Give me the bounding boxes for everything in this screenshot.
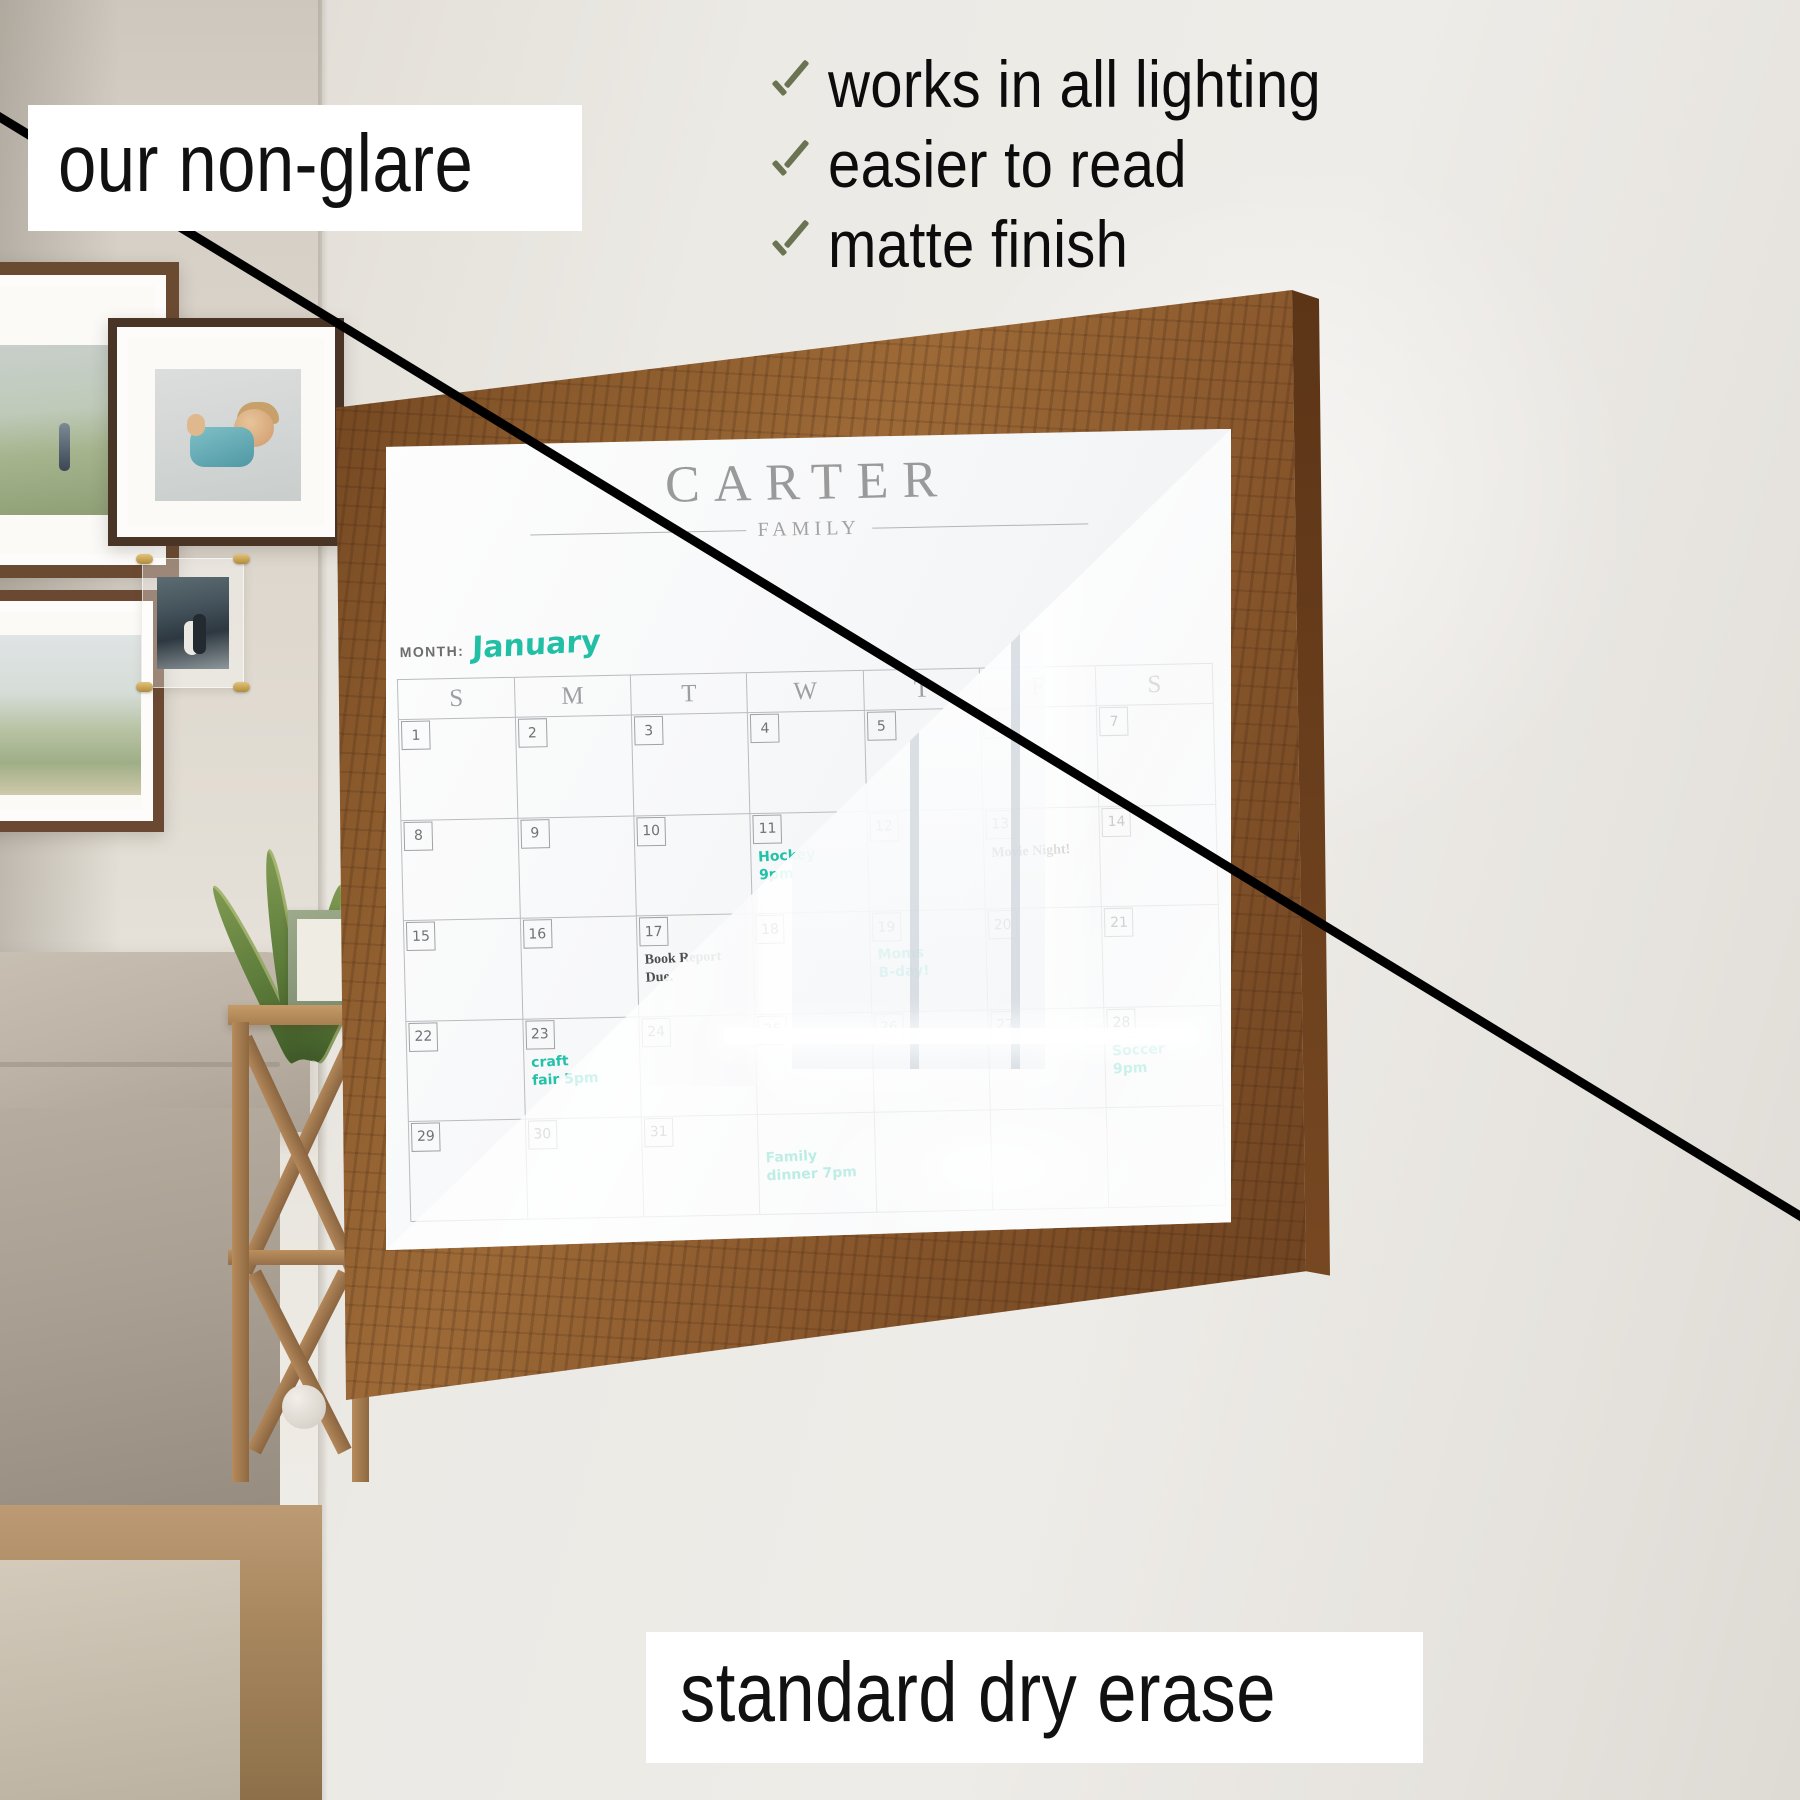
day-number: 17: [639, 917, 669, 947]
day-number: 26: [874, 1012, 904, 1042]
day-number: 16: [522, 919, 552, 949]
calendar-day-cell[interactable]: [874, 1110, 993, 1213]
calendar-week-row: 891011Hockey9pm1213Movie Night!14: [402, 804, 1219, 921]
day-of-week-header: S: [398, 678, 515, 720]
day-number: 2: [517, 718, 547, 748]
day-of-week-header: T: [631, 673, 748, 715]
calendar-day-cell[interactable]: 29: [409, 1119, 528, 1222]
handwritten-event-note[interactable]: Book ReportDue.: [644, 947, 749, 988]
non-glare-label-text: our non-glare: [58, 117, 473, 211]
check-icon: [768, 58, 808, 110]
family-word: FAMILY: [757, 517, 861, 542]
framed-dry-erase-calendar: CARTER FAMILY MONTH: January SMTWTFS 123…: [330, 290, 1330, 1400]
calendar-day-cell[interactable]: 27: [988, 1007, 1107, 1110]
calendar-board-face: CARTER FAMILY MONTH: January SMTWTFS 123…: [386, 429, 1231, 1250]
calendar-day-cell[interactable]: 7: [1097, 704, 1216, 807]
calendar-day-cell[interactable]: 20: [986, 907, 1105, 1010]
non-glare-label-banner: our non-glare: [28, 105, 582, 231]
calendar-day-cell[interactable]: 26: [872, 1010, 991, 1113]
gallery-frame-watercolor-photo: [0, 590, 164, 832]
day-number: 13: [985, 809, 1015, 839]
day-number: 28: [1107, 1008, 1137, 1038]
calendar-day-cell[interactable]: 18: [753, 912, 872, 1015]
calendar-week-row: 151617Book ReportDue.1819MomsB-day!2021: [404, 905, 1221, 1022]
day-of-week-header: F: [980, 666, 1097, 708]
day-of-week-header: M: [514, 676, 631, 718]
calendar-day-cell[interactable]: 24: [639, 1014, 758, 1117]
calendar-week-row: 1234567: [399, 704, 1216, 821]
feature-bullet: easier to read: [768, 126, 1388, 202]
calendar-day-cell[interactable]: 3: [632, 713, 751, 816]
day-number: 21: [1104, 907, 1134, 937]
product-comparison-image: CARTER FAMILY MONTH: January SMTWTFS 123…: [0, 0, 1800, 1800]
calendar-day-cell[interactable]: 10: [634, 814, 753, 917]
handwritten-event-note[interactable]: MomsB-day!: [877, 942, 982, 983]
brass-stud-icon: [136, 682, 153, 692]
calendar-day-cell[interactable]: 4: [748, 711, 867, 814]
calendar-day-cell[interactable]: 19MomsB-day!: [869, 909, 988, 1012]
day-of-week-header: W: [747, 671, 864, 713]
day-number: 19: [872, 912, 902, 942]
calendar-week-row: 2223craftfair 5pm2425262728Soccer9pm: [407, 1005, 1224, 1122]
day-number: 9: [520, 819, 550, 849]
calendar-day-cell[interactable]: [991, 1108, 1110, 1211]
calendar-grid: SMTWTFS 1234567891011Hockey9pm1213Movie …: [397, 663, 1226, 1222]
gallery-frame-baby-photo: [108, 318, 344, 546]
brass-stud-icon: [233, 554, 250, 564]
day-of-week-header: S: [1096, 664, 1213, 706]
handwritten-event-note[interactable]: Hockey9pm: [758, 844, 863, 885]
day-number: 15: [406, 921, 436, 951]
day-number: 8: [404, 821, 434, 851]
calendar-day-cell[interactable]: 16: [520, 916, 639, 1019]
day-number: 10: [636, 816, 666, 846]
decor-sphere: [282, 1385, 326, 1429]
calendar-day-cell[interactable]: 9: [518, 816, 637, 919]
day-number: 30: [527, 1120, 557, 1150]
calendar-day-cell[interactable]: Familydinner 7pm: [758, 1112, 877, 1215]
day-number: 20: [988, 910, 1018, 940]
handwritten-event-note[interactable]: Familydinner 7pm: [766, 1145, 871, 1186]
check-icon: [768, 218, 808, 270]
family-name: CARTER: [529, 451, 1088, 514]
rule-left: [530, 530, 746, 535]
calendar-brand-heading: CARTER FAMILY: [529, 451, 1089, 546]
calendar-day-cell[interactable]: 13Movie Night!: [983, 807, 1102, 910]
check-icon: [768, 138, 808, 190]
calendar-day-cell[interactable]: 25: [756, 1012, 875, 1115]
calendar-day-cell[interactable]: 8: [402, 818, 521, 921]
calendar-day-cell[interactable]: 22: [407, 1019, 526, 1122]
calendar-day-cell[interactable]: 17Book ReportDue.: [637, 914, 756, 1017]
calendar-day-cell[interactable]: 21: [1102, 905, 1221, 1008]
day-number: 31: [644, 1117, 674, 1147]
standard-dry-erase-label-text: standard dry erase: [680, 1644, 1276, 1741]
calendar-week-row: 293031Familydinner 7pm: [409, 1106, 1226, 1223]
day-number: 22: [409, 1022, 439, 1052]
calendar-day-cell[interactable]: 31: [642, 1115, 761, 1218]
feature-bullet-label: works in all lighting: [828, 46, 1321, 122]
calendar-day-cell[interactable]: 5: [865, 709, 984, 812]
acrylic-magnet-frame: [142, 558, 244, 688]
feature-bullet-list: works in all lightingeasier to readmatte…: [768, 46, 1388, 286]
day-number: 12: [869, 812, 899, 842]
wedding-photo: [157, 577, 229, 669]
day-number: 24: [641, 1017, 671, 1047]
rule-right: [872, 523, 1088, 528]
calendar-day-cell[interactable]: [1107, 1106, 1226, 1209]
month-row: MONTH: January: [399, 626, 601, 665]
day-number: 5: [867, 711, 897, 741]
photo-image: [0, 635, 141, 795]
handwritten-event-note[interactable]: Soccer9pm: [1112, 1038, 1217, 1079]
day-number: 29: [411, 1122, 441, 1152]
feature-bullet: matte finish: [768, 206, 1388, 282]
handwritten-event-note[interactable]: craftfair 5pm: [530, 1049, 635, 1090]
calendar-day-cell[interactable]: 15: [404, 919, 523, 1022]
day-number: 18: [755, 914, 785, 944]
calendar-day-cell[interactable]: 30: [525, 1117, 644, 1220]
day-number: 14: [1102, 807, 1132, 837]
family-subtitle-row: FAMILY: [530, 512, 1088, 546]
side-table-leg: [232, 1022, 249, 1482]
brass-stud-icon: [233, 682, 250, 692]
calendar-day-cell[interactable]: 1: [399, 718, 518, 821]
feature-bullet-label: matte finish: [828, 206, 1128, 282]
calendar-day-cell[interactable]: 23craftfair 5pm: [523, 1017, 642, 1120]
month-label: MONTH:: [400, 643, 465, 660]
calendar-day-cell[interactable]: 11Hockey9pm: [751, 811, 870, 914]
day-number: 11: [753, 814, 783, 844]
day-number: 27: [990, 1010, 1020, 1040]
calendar-day-cell[interactable]: 2: [515, 716, 634, 819]
calendar-day-cell[interactable]: 28Soccer9pm: [1105, 1005, 1224, 1108]
feature-bullet-label: easier to read: [828, 126, 1187, 202]
day-number: 1: [401, 721, 431, 751]
day-number: 3: [634, 716, 664, 746]
day-number: 4: [750, 714, 780, 744]
standard-dry-erase-label-banner: standard dry erase: [646, 1632, 1423, 1763]
photo-image: [155, 369, 301, 501]
day-number: 25: [758, 1015, 788, 1045]
area-rug: [0, 1560, 240, 1800]
brass-stud-icon: [136, 554, 153, 564]
handwritten-event-note[interactable]: Movie Night!: [991, 839, 1095, 862]
calendar-day-cell[interactable]: 12: [867, 809, 986, 912]
day-number: 7: [1099, 707, 1129, 737]
feature-bullet: works in all lighting: [768, 46, 1388, 122]
month-value-handwritten[interactable]: January: [472, 624, 601, 666]
day-number: 23: [525, 1019, 555, 1049]
